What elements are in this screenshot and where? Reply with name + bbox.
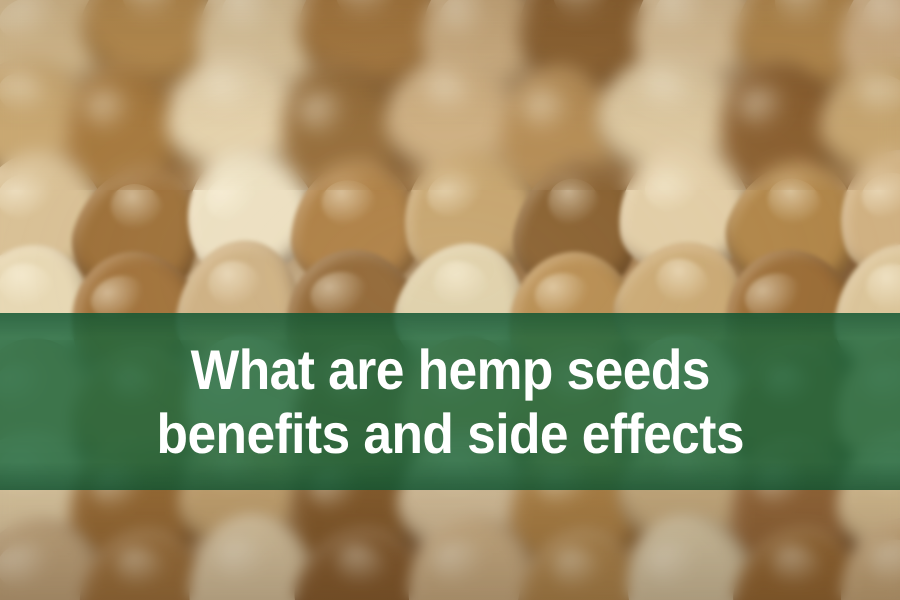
- title-line-1: What are hemp seeds: [156, 338, 743, 402]
- hemp-seeds-photo: [0, 0, 900, 600]
- hemp-seeds-banner: What are hemp seeds benefits and side ef…: [0, 0, 900, 600]
- green-title-band: What are hemp seeds benefits and side ef…: [0, 313, 900, 490]
- title-line-2: benefits and side effects: [156, 402, 743, 466]
- page-title: What are hemp seeds benefits and side ef…: [156, 338, 743, 466]
- photo-blur-top: [0, 0, 900, 190]
